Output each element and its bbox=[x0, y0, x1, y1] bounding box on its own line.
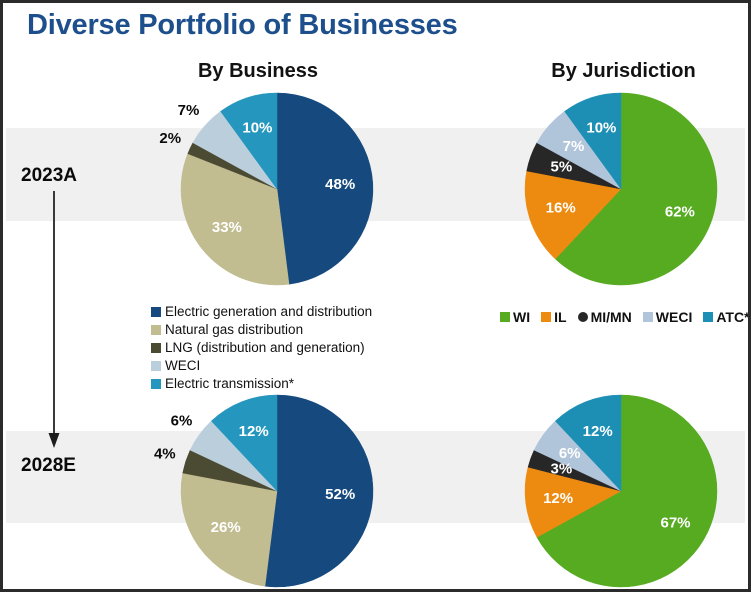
legend-swatch-icon bbox=[151, 361, 161, 371]
legend-item-label: WECI bbox=[656, 310, 693, 324]
legend-item-label: IL bbox=[554, 310, 566, 324]
pie-slice-label: 6% bbox=[559, 445, 581, 462]
pie-slice-label: 7% bbox=[563, 138, 585, 155]
legend-item-label: WECI bbox=[165, 359, 200, 373]
legend-item-label: LNG (distribution and generation) bbox=[165, 341, 365, 355]
pie-slice-label: 16% bbox=[546, 200, 576, 217]
pie-slice-label: 48% bbox=[325, 176, 355, 193]
legend-swatch-icon bbox=[151, 307, 161, 317]
legend-swatch-icon bbox=[500, 312, 510, 322]
pie-slice-label: 6% bbox=[171, 413, 193, 430]
legend-item: Electric generation and distribution bbox=[151, 303, 372, 320]
slide-root: Diverse Portfolio of Businesses By Busin… bbox=[0, 0, 751, 592]
legend-item: Electric transmission* bbox=[151, 375, 372, 392]
legend-swatch-icon bbox=[578, 312, 588, 322]
legend-item: MI/MN bbox=[578, 310, 632, 324]
legend-item-label: Electric generation and distribution bbox=[165, 305, 372, 319]
pie-slice-label: 12% bbox=[583, 423, 613, 440]
legend-swatch-icon bbox=[151, 325, 161, 335]
pie-slice-label: 26% bbox=[211, 519, 241, 536]
legend-item: Natural gas distribution bbox=[151, 321, 372, 338]
column-title-business: By Business bbox=[158, 60, 358, 83]
pie-chart-business-2028e: 52%26%4%6%12% bbox=[179, 393, 375, 589]
pie-slice-label: 67% bbox=[660, 514, 690, 531]
pie-slice-label: 10% bbox=[586, 120, 616, 137]
pie-chart-jurisdiction-2028e: 67%12%3%6%12% bbox=[523, 393, 719, 589]
pie-slice-label: 33% bbox=[212, 219, 242, 236]
legend-swatch-icon bbox=[643, 312, 653, 322]
legend-item-label: Electric transmission* bbox=[165, 377, 294, 391]
legend-item: ATC* bbox=[703, 310, 749, 324]
pie-slice-label: 10% bbox=[242, 120, 272, 137]
legend-item: LNG (distribution and generation) bbox=[151, 339, 372, 356]
legend-item: WECI bbox=[643, 310, 693, 324]
pie-slice-label: 62% bbox=[665, 203, 695, 220]
pie-slice-label: 2% bbox=[159, 130, 181, 147]
pie-slice-label: 4% bbox=[154, 445, 176, 462]
legend-jurisdiction: WIILMI/MNWECIATC* bbox=[500, 310, 751, 324]
pie-slice-label: 12% bbox=[239, 423, 269, 440]
legend-business: Electric generation and distributionNatu… bbox=[151, 303, 372, 393]
legend-item: IL bbox=[541, 310, 566, 324]
pie-slice-label: 12% bbox=[543, 490, 573, 507]
pie-slice-label: 5% bbox=[551, 158, 573, 175]
legend-swatch-icon bbox=[703, 312, 713, 322]
legend-swatch-icon bbox=[541, 312, 551, 322]
legend-item: WECI bbox=[151, 357, 372, 374]
pie-slice-label: 7% bbox=[178, 102, 200, 119]
legend-swatch-icon bbox=[151, 343, 161, 353]
pie-chart-business-2023a: 48%33%2%7%10% bbox=[179, 91, 375, 287]
pie-chart-jurisdiction-2023a: 62%16%5%7%10% bbox=[523, 91, 719, 287]
row-label-2023a: 2023A bbox=[21, 165, 77, 187]
legend-item: WI bbox=[500, 310, 530, 324]
legend-item-label: MI/MN bbox=[591, 310, 632, 324]
pie-slice bbox=[265, 395, 373, 587]
down-arrow-icon bbox=[47, 191, 61, 449]
legend-item-label: WI bbox=[513, 310, 530, 324]
column-title-jurisdiction: By Jurisdiction bbox=[521, 60, 726, 83]
legend-item-label: ATC* bbox=[716, 310, 749, 324]
pie-slice-label: 3% bbox=[551, 460, 573, 477]
pie-slice-label: 52% bbox=[325, 486, 355, 503]
page-title: Diverse Portfolio of Businesses bbox=[27, 9, 458, 42]
row-label-2028e: 2028E bbox=[21, 455, 76, 477]
legend-item-label: Natural gas distribution bbox=[165, 323, 303, 337]
legend-swatch-icon bbox=[151, 379, 161, 389]
